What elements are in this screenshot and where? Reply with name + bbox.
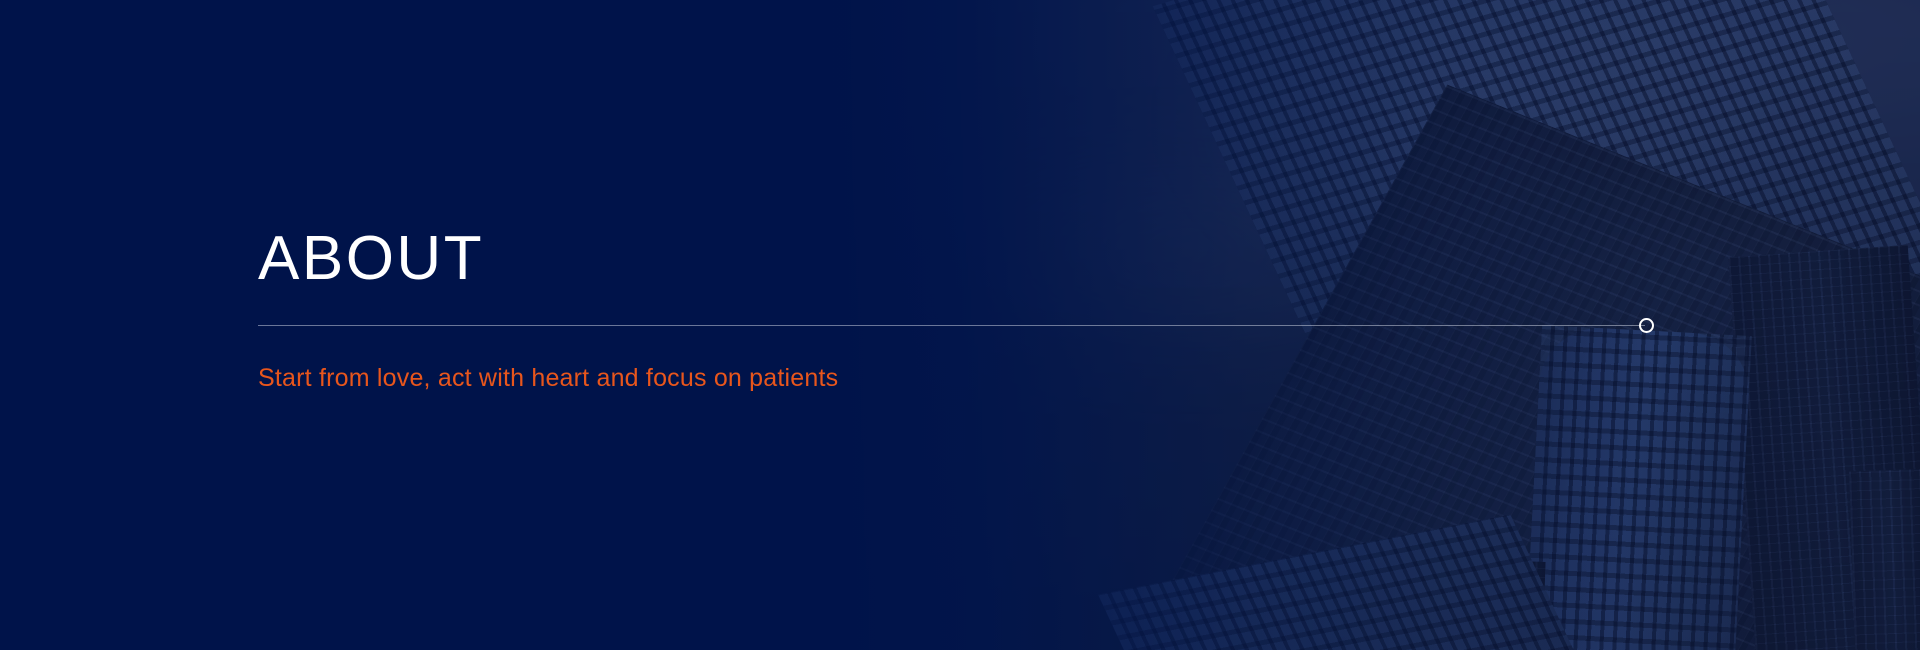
divider-line [258,325,1645,326]
circle-marker-icon[interactable] [1639,318,1654,333]
divider [258,318,1654,334]
hero-content: ABOUT Start from love, act with heart an… [0,0,1920,650]
about-hero-banner: ABOUT Start from love, act with heart an… [0,0,1920,650]
page-title: ABOUT [258,228,484,290]
page-subtitle: Start from love, act with heart and focu… [258,362,838,395]
